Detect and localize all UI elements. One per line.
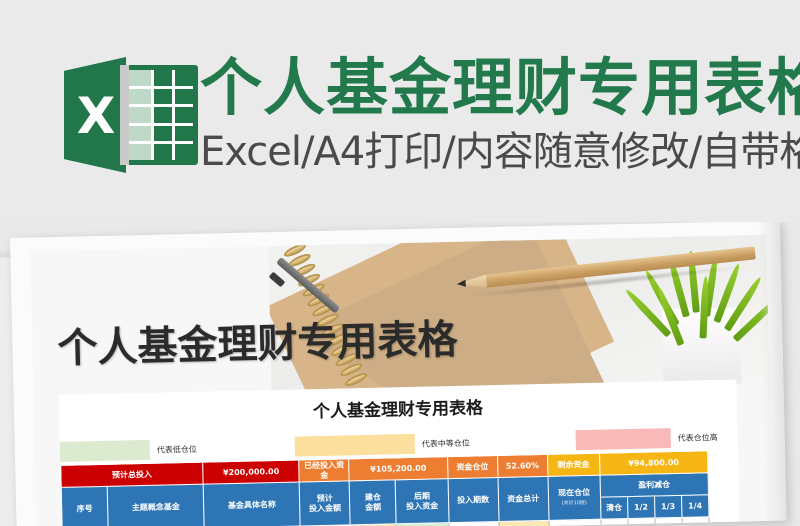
summary-value-total-planned: ¥200,000.00 [203, 460, 300, 484]
legend-label-high: 代表仓位高 [671, 431, 718, 443]
excel-logo-letter: X [70, 87, 122, 145]
excel-logo-icon: X [64, 57, 198, 173]
legend-label-medium: 代表中等仓位 [415, 437, 470, 449]
banner-title: 个人基金理财专用表格 [200, 52, 800, 124]
fund-table[interactable]: 预计总投入 ¥200,000.00 已经投入资金 ¥105,200.00 资金仓… [60, 450, 710, 526]
col-header-index: 序号 [61, 486, 108, 526]
col-header-clear: 清仓 [600, 497, 628, 520]
summary-value-invested: ¥105,200.00 [349, 457, 448, 481]
summary-label-remaining: 剩余资金 [547, 453, 600, 476]
cell-current-position[interactable]: 4层 [549, 519, 602, 526]
col-header-open-amount: 建仓 金额 [350, 480, 397, 525]
summary-label-invested: 已经投入资金 [299, 459, 350, 482]
summary-value-remaining: ¥94,800.00 [599, 451, 708, 475]
legend-label-low: 代表低仓位 [150, 443, 197, 455]
legend-swatch-high [576, 428, 671, 450]
summary-label-position: 资金仓位 [447, 456, 498, 479]
legend-swatch-low [60, 440, 150, 462]
banner-subtitle: Excel/A4打印/内容随意修改/自带格式 [200, 128, 800, 176]
cell-later-amount[interactable]: 3000 [397, 523, 450, 526]
col-header-fund-name: 基金具体名称 [203, 482, 300, 526]
cell-quarter[interactable] [682, 517, 710, 526]
col-header-planned-amount: 预计 投入金额 [299, 481, 350, 526]
col-header-later-amount: 后期 投入资金 [396, 479, 449, 524]
pen-tip-icon [269, 272, 286, 288]
cell-half[interactable] [628, 518, 655, 526]
legend-swatch-medium [295, 434, 415, 457]
cell-total[interactable]: 8000 [499, 520, 550, 526]
col-header-periods: 投入期数 [448, 477, 499, 522]
cell-periods[interactable]: 3期 [449, 521, 500, 526]
col-header-current-position: 现在仓位 (共计10层) [548, 475, 601, 520]
spreadsheet: 个人基金理财专用表格 代表低仓位 代表中等仓位 代表仓位高 [59, 380, 740, 526]
banner: X 个人基金理财专用表格 Excel/A4打印/内容随意修改/自带格式 [0, 0, 800, 222]
preview-scene: 个人基金理财专用表格 个人基金理财专用表格 代表低仓位 代表中等仓位 代表仓位高 [0, 222, 800, 526]
col-header-total: 资金总计 [498, 476, 549, 521]
summary-label-total-planned: 预计总投入 [61, 462, 204, 487]
excel-logo-grid [125, 70, 193, 160]
col-header-half: 1/2 [627, 496, 655, 519]
screenshot-root: X 个人基金理财专用表格 Excel/A4打印/内容随意修改/自带格式 [0, 0, 800, 526]
document-heading: 个人基金理财专用表格 [57, 316, 458, 373]
cell-third[interactable] [655, 517, 682, 526]
col-header-third: 1/3 [654, 495, 682, 518]
summary-value-position: 52.60% [497, 454, 548, 477]
col-header-profit-reduce: 盈利减仓 [600, 473, 709, 497]
cell-clear[interactable] [601, 519, 628, 526]
col-header-theme-fund: 主题概念基金 [107, 484, 204, 526]
col-header-quarter: 1/4 [681, 495, 709, 518]
